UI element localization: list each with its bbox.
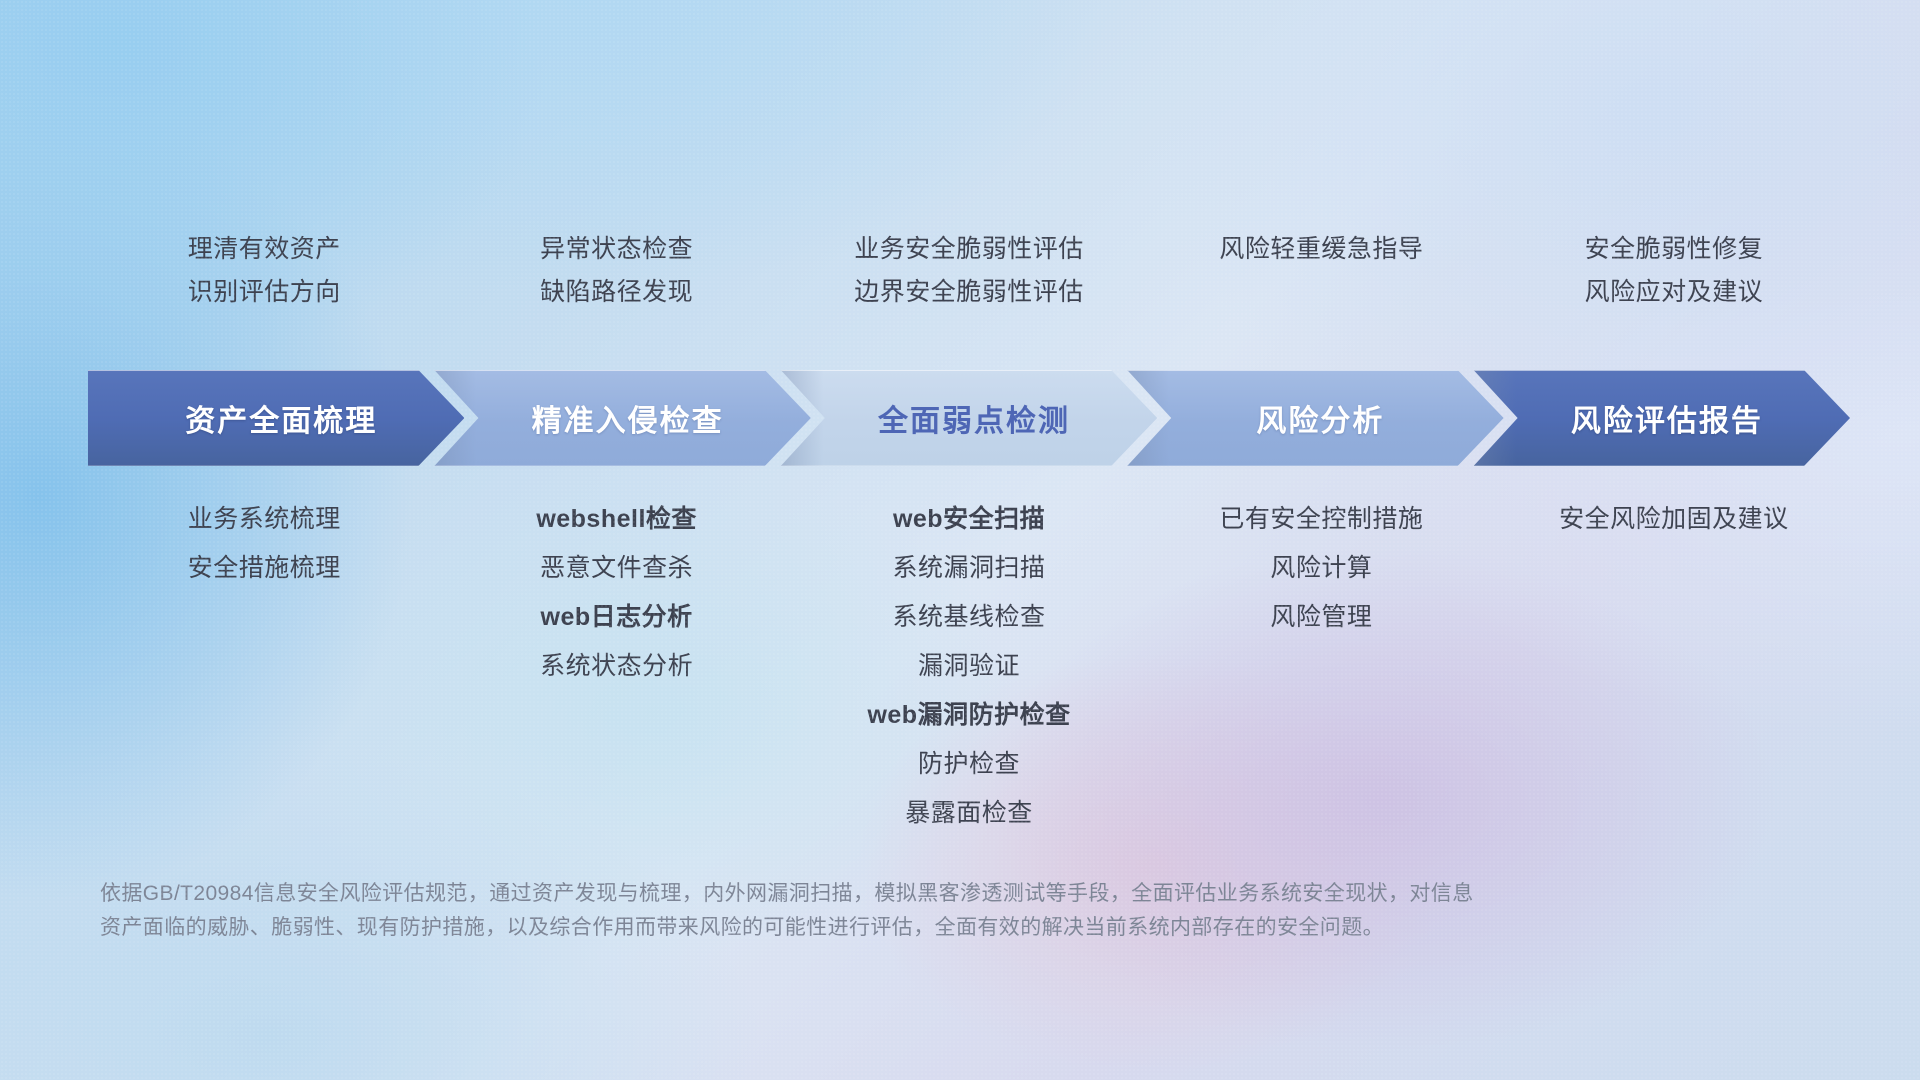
top-annotation-line: 业务安全脆弱性评估 [793,228,1145,271]
list-item: 漏洞验证 [793,642,1145,691]
list-item: 系统状态分析 [440,642,792,691]
list-item: 系统漏洞扫描 [793,544,1145,593]
list-item: 防护检查 [793,740,1145,789]
chevron-stage-1[interactable]: 资产全面梳理 [88,370,464,466]
top-annotation-line: 理清有效资产 [88,228,440,271]
list-item: 风险管理 [1145,593,1497,642]
chevron-stage-3[interactable]: 全面弱点检测 [781,370,1157,466]
list-item: web漏洞防护检查 [793,691,1145,740]
top-annotation-stage-1: 理清有效资产 识别评估方向 [88,228,440,314]
detail-list-row: 业务系统梳理 安全措施梳理 webshell检查 恶意文件查杀 web日志分析 … [88,495,1850,838]
chevron-stage-5-label: 风险评估报告 [1561,396,1763,440]
list-item: 已有安全控制措施 [1145,495,1497,544]
footer-description: 依据GB/T20984信息安全风险评估规范，通过资产发现与梳理，内外网漏洞扫描，… [100,877,1660,945]
footer-line: 依据GB/T20984信息安全风险评估规范，通过资产发现与梳理，内外网漏洞扫描，… [100,877,1660,911]
list-item: 风险计算 [1145,544,1497,593]
list-item: 安全措施梳理 [88,544,440,593]
chevron-stage-2[interactable]: 精准入侵检查 [434,370,810,466]
slide-canvas: 理清有效资产 识别评估方向 异常状态检查 缺陷路径发现 业务安全脆弱性评估 边界… [0,0,1920,1080]
detail-list-stage-1: 业务系统梳理 安全措施梳理 [88,495,440,593]
list-item: 安全风险加固及建议 [1498,495,1850,544]
top-annotation-stage-4: 风险轻重缓急指导 [1145,228,1497,314]
detail-list-stage-5: 安全风险加固及建议 [1498,495,1850,544]
chevron-stage-1-label: 资产全面梳理 [175,396,377,440]
footer-line: 资产面临的威胁、脆弱性、现有防护措施，以及综合作用而带来风险的可能性进行评估，全… [100,911,1660,945]
list-item: 恶意文件查杀 [440,544,792,593]
list-item: 系统基线检查 [793,593,1145,642]
detail-list-stage-3: web安全扫描 系统漏洞扫描 系统基线检查 漏洞验证 web漏洞防护检查 防护检… [793,495,1145,838]
list-item: 暴露面检查 [793,789,1145,838]
top-annotation-line: 缺陷路径发现 [440,271,792,314]
chevron-stage-2-label: 精准入侵检查 [522,396,724,440]
chevron-stage-3-label: 全面弱点检测 [868,396,1070,440]
detail-list-stage-4: 已有安全控制措施 风险计算 风险管理 [1145,495,1497,642]
top-annotation-line: 识别评估方向 [88,271,440,314]
top-annotation-line: 异常状态检查 [440,228,792,271]
top-annotation-line: 风险轻重缓急指导 [1145,228,1497,271]
list-item: web安全扫描 [793,495,1145,544]
top-annotation-row: 理清有效资产 识别评估方向 异常状态检查 缺陷路径发现 业务安全脆弱性评估 边界… [88,228,1850,314]
top-annotation-stage-5: 安全脆弱性修复 风险应对及建议 [1498,228,1850,314]
top-annotation-line: 边界安全脆弱性评估 [793,271,1145,314]
chevron-band: 资产全面梳理 精准入侵检查 全面弱点检测 风险分析 风险评估报告 [88,370,1850,466]
chevron-stage-4[interactable]: 风险分析 [1127,370,1503,466]
top-annotation-stage-2: 异常状态检查 缺陷路径发现 [440,228,792,314]
detail-list-stage-2: webshell检查 恶意文件查杀 web日志分析 系统状态分析 [440,495,792,691]
top-annotation-line: 风险应对及建议 [1498,271,1850,314]
list-item: web日志分析 [440,593,792,642]
top-annotation-stage-3: 业务安全脆弱性评估 边界安全脆弱性评估 [793,228,1145,314]
list-item: webshell检查 [440,495,792,544]
top-annotation-line: 安全脆弱性修复 [1498,228,1850,271]
chevron-stage-4-label: 风险分析 [1246,396,1384,440]
list-item: 业务系统梳理 [88,495,440,544]
chevron-stage-5[interactable]: 风险评估报告 [1474,370,1850,466]
